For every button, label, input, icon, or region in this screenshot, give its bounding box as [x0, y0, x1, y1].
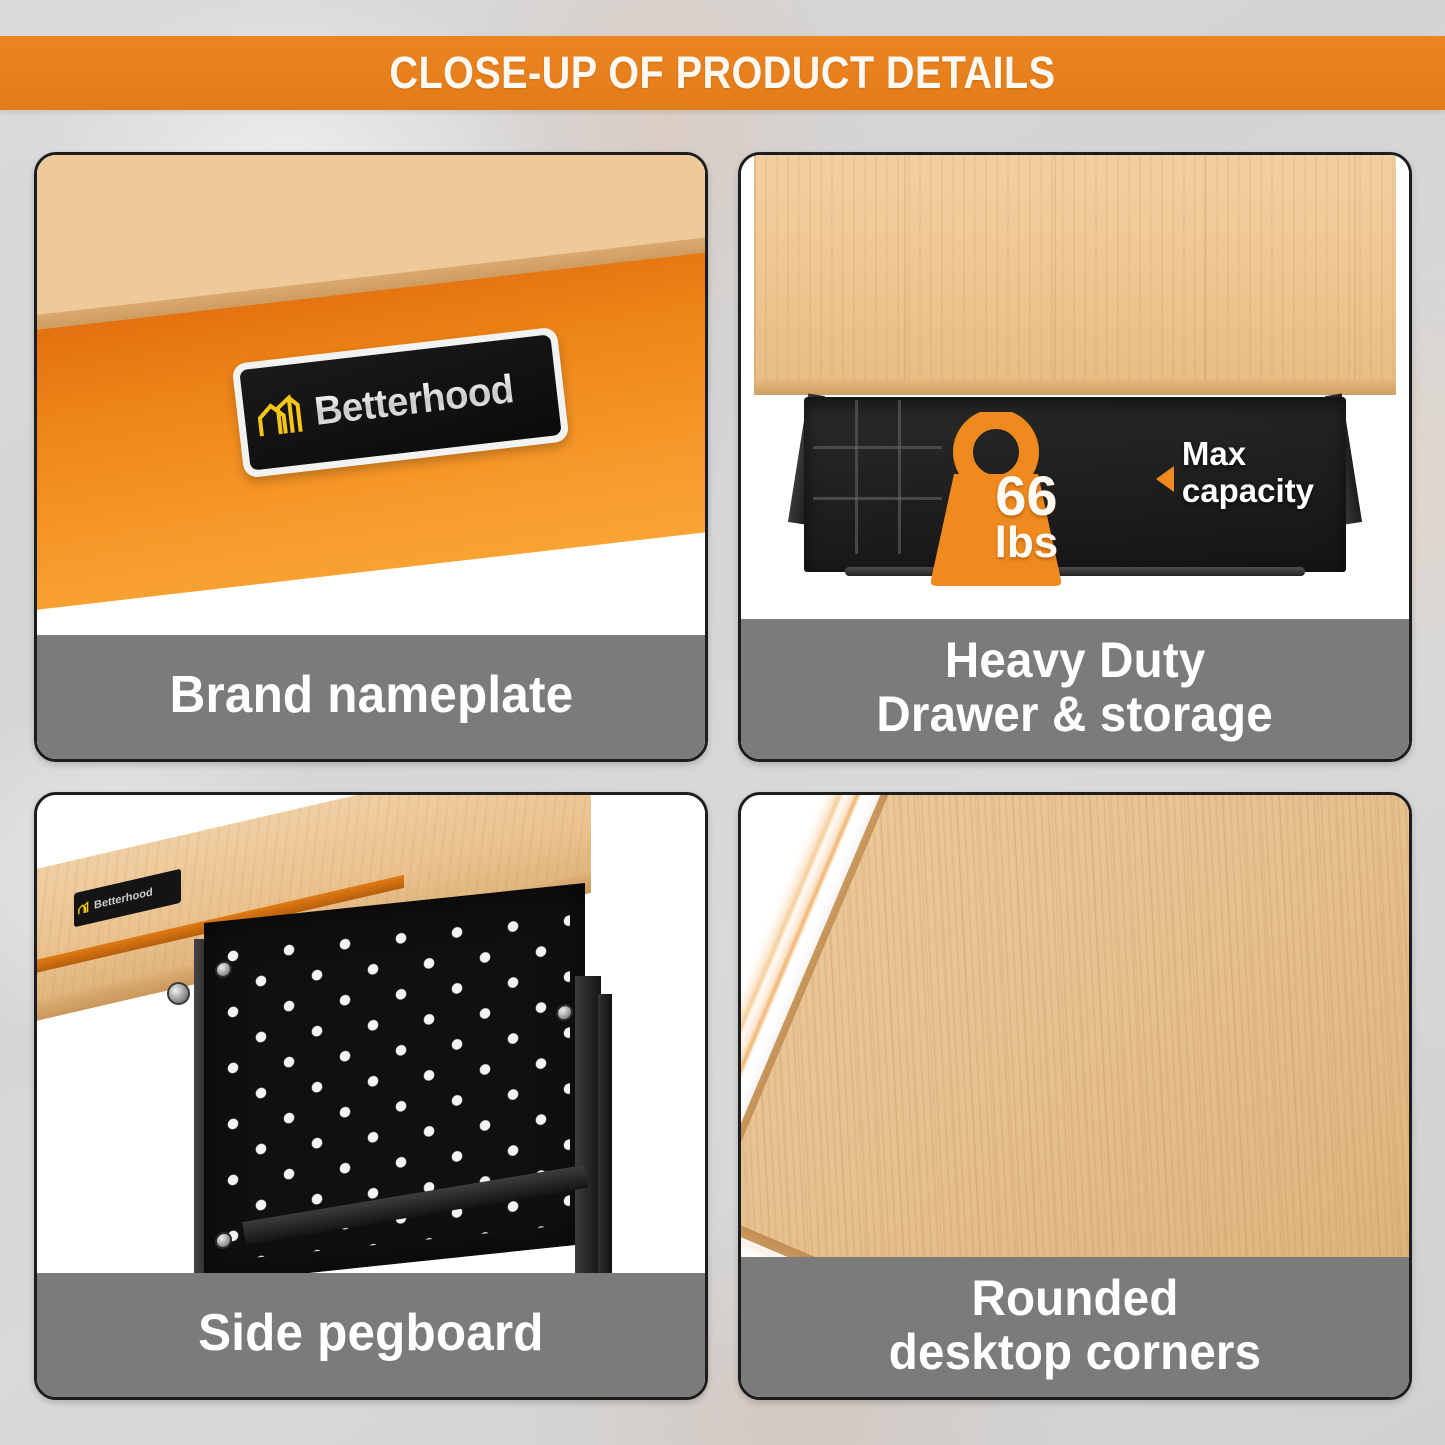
house-building-icon [255, 394, 305, 439]
brand-name-text-small: Betterhood [94, 886, 153, 912]
max-capacity-annotation: Max capacity [1182, 436, 1314, 510]
bolt-icon [167, 982, 190, 1005]
panel-brand-nameplate: Betterhood Brand nameplate [34, 152, 708, 762]
caption-line-1: Brand nameplate [169, 667, 573, 723]
caption-line-1: Rounded [971, 1271, 1178, 1325]
header-banner: CLOSE-UP OF PRODUCT DETAILS [0, 36, 1445, 110]
weight-badge-text: 66 lbs [951, 469, 1101, 564]
max-capacity-line-1: Max [1182, 436, 1314, 473]
caption-line-2: desktop corners [889, 1325, 1261, 1379]
brand-name-text: Betterhood [313, 367, 517, 435]
caption-line-2: Drawer & storage [877, 687, 1273, 741]
page-title: CLOSE-UP OF PRODUCT DETAILS [389, 47, 1055, 99]
panel-heavy-duty-drawer: 66 lbs Max capacity Heavy Duty Drawer & … [738, 152, 1412, 762]
weight-value: 66 [951, 469, 1101, 522]
caption-line-1: Heavy Duty [945, 633, 1206, 687]
caption-brand-nameplate: Brand nameplate [37, 635, 705, 759]
wood-edge-band [754, 380, 1395, 396]
caption-heavy-duty-drawer: Heavy Duty Drawer & storage [741, 619, 1409, 759]
panel-side-pegboard: Betterhood Side pegboard [34, 792, 708, 1400]
feature-panel-grid: Betterhood Brand nameplate [34, 152, 1412, 1410]
bench-leg-far [598, 994, 612, 1307]
weight-unit: lbs [951, 522, 1101, 564]
caption-side-pegboard: Side pegboard [37, 1273, 705, 1397]
infographic-page: CLOSE-UP OF PRODUCT DETAILS Betterhood [0, 0, 1445, 1445]
drawer-front-lip [845, 567, 1305, 577]
screw-icon-right [556, 1004, 573, 1023]
house-building-icon [78, 900, 91, 915]
triangle-left-icon [1156, 466, 1174, 492]
workbench-wood-top [754, 155, 1395, 385]
max-capacity-line-2: capacity [1182, 473, 1314, 510]
panel-rounded-corners: Rounded desktop corners [738, 792, 1412, 1400]
caption-rounded-corners: Rounded desktop corners [741, 1257, 1409, 1397]
caption-line-1: Side pegboard [198, 1305, 544, 1361]
